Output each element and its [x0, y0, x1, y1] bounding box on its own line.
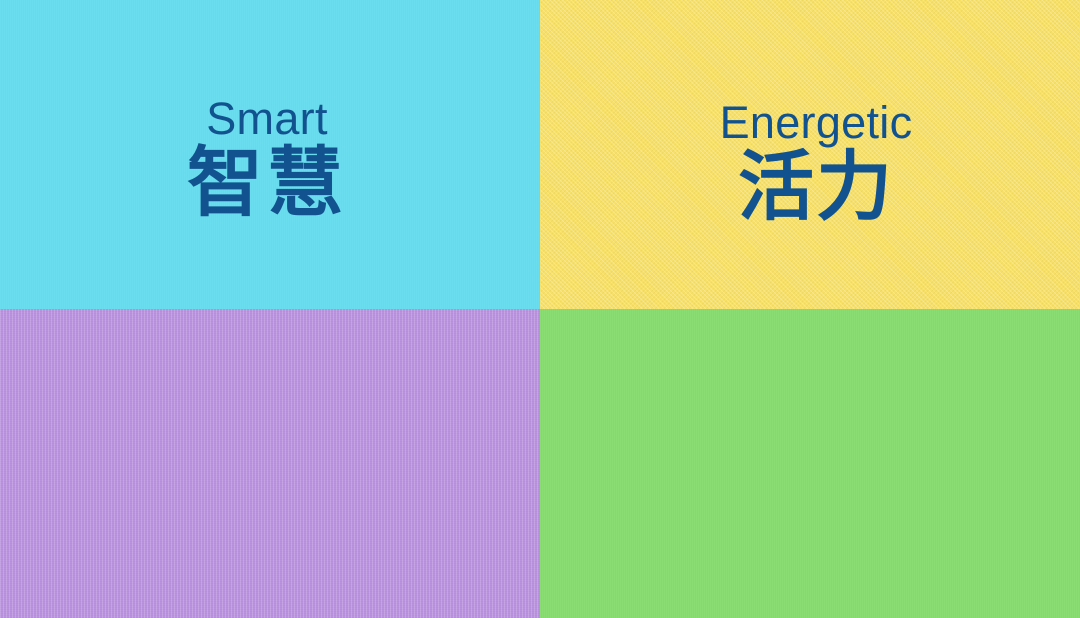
dither-texture-green	[540, 309, 1080, 618]
quadrant-smart[interactable]: Smart 智慧	[0, 0, 540, 309]
quadrant-energetic[interactable]: Energetic 活力	[540, 0, 1080, 309]
quadrant-innovative[interactable]: Innovative 創新	[0, 309, 540, 618]
label-en-smart: Smart	[187, 96, 347, 141]
label-cjk-energetic: 活力	[720, 149, 913, 225]
label-cjk-smart: 智慧	[187, 145, 347, 221]
text-block-smart: Smart 智慧	[187, 96, 347, 221]
dither-texture-purple	[0, 309, 540, 618]
values-grid: Smart 智慧 Energetic 活力 Innovative 創新 Sust…	[0, 0, 1080, 618]
text-block-energetic: Energetic 活力	[720, 100, 913, 225]
quadrant-sustainable[interactable]: Sustainable 永續	[540, 309, 1080, 618]
label-en-energetic: Energetic	[720, 100, 913, 145]
brand-values-canvas: Smart 智慧 Energetic 活力 Innovative 創新 Sust…	[0, 0, 1080, 618]
